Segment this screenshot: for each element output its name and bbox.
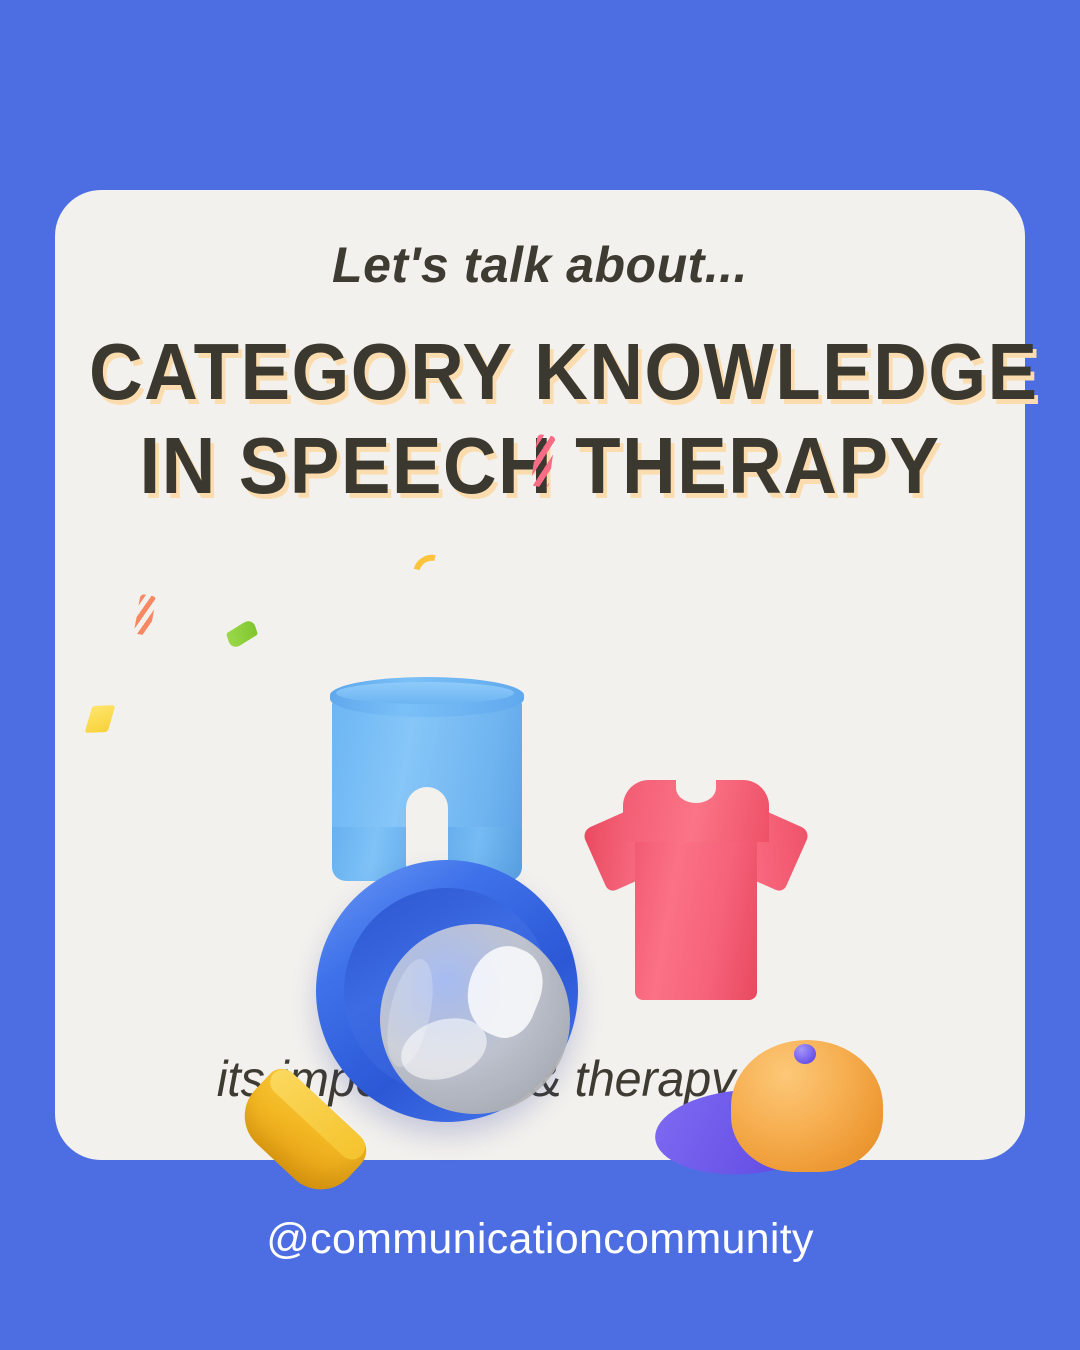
title-line-1: CATEGORY KNOWLEDGE (89, 325, 991, 419)
poster-canvas: Let's talk about... CATEGORY KNOWLEDGE I… (0, 0, 1080, 1350)
content-card: Let's talk about... CATEGORY KNOWLEDGE I… (55, 190, 1025, 1160)
subtitle-text: its importance & therapy ideas (70, 1050, 1011, 1108)
title-line-2: IN SPEECH THERAPY (89, 419, 991, 513)
kicker-text: Let's talk about... (55, 236, 1025, 294)
account-handle: @communicationcommunity (0, 1215, 1080, 1264)
page-title: CATEGORY KNOWLEDGE IN SPEECH THERAPY (55, 325, 1025, 514)
